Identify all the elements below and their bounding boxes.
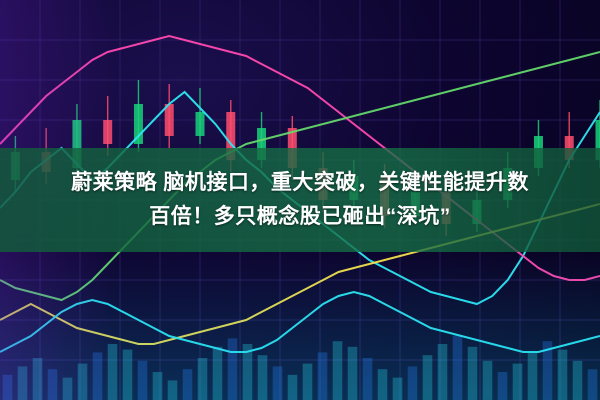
headline-banner: 蔚莱策略 脑机接口，重大突破，关键性能提升数 百倍！多只概念股已砸出“深坑” (0, 148, 600, 252)
headline-line-2: 百倍！多只概念股已砸出“深坑” (149, 200, 451, 234)
stock-chart-poster: 蔚莱策略 脑机接口，重大突破，关键性能提升数 百倍！多只概念股已砸出“深坑” (0, 0, 600, 400)
headline-line-1: 蔚莱策略 脑机接口，重大突破，关键性能提升数 (71, 166, 529, 200)
